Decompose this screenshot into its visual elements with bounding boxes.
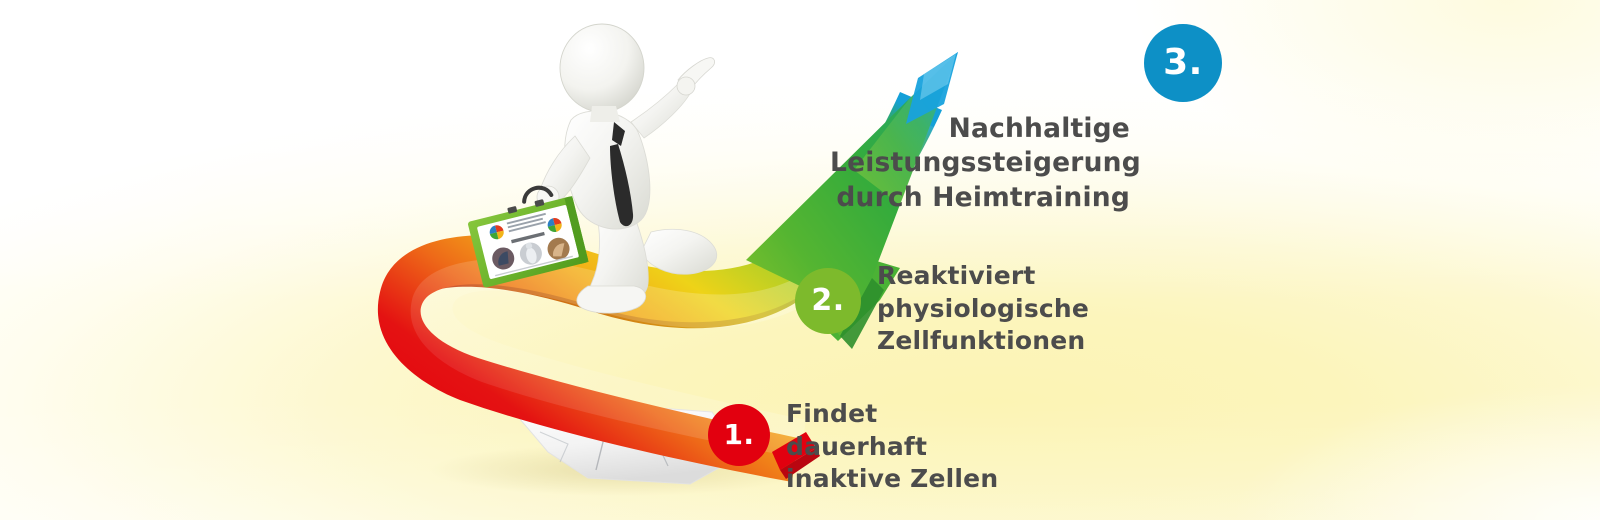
figure-head [560, 24, 644, 112]
figure-neck [590, 106, 620, 122]
step-2-text: Reaktiviert physiologische Zellfunktione… [877, 258, 1089, 358]
step-2-badge: 2. [795, 268, 861, 334]
figure-right-hand-knuckle [677, 77, 695, 95]
step-1-text: Findet dauerhaft inaktive Zellen [786, 398, 998, 496]
step-3: Nachhaltige Leistungssteigerung durch He… [830, 24, 1222, 215]
step-3-badge: 3. [1144, 24, 1222, 102]
step-2: 2. Reaktiviert physiologische Zellfunkti… [795, 258, 1089, 358]
infographic-banner: Nachhaltige Leistungssteigerung durch He… [0, 0, 1600, 520]
step-1-badge: 1. [708, 404, 770, 466]
step-3-text: Nachhaltige Leistungssteigerung durch He… [830, 24, 1130, 215]
step-1: 1. Findet dauerhaft inaktive Zellen [708, 398, 998, 496]
